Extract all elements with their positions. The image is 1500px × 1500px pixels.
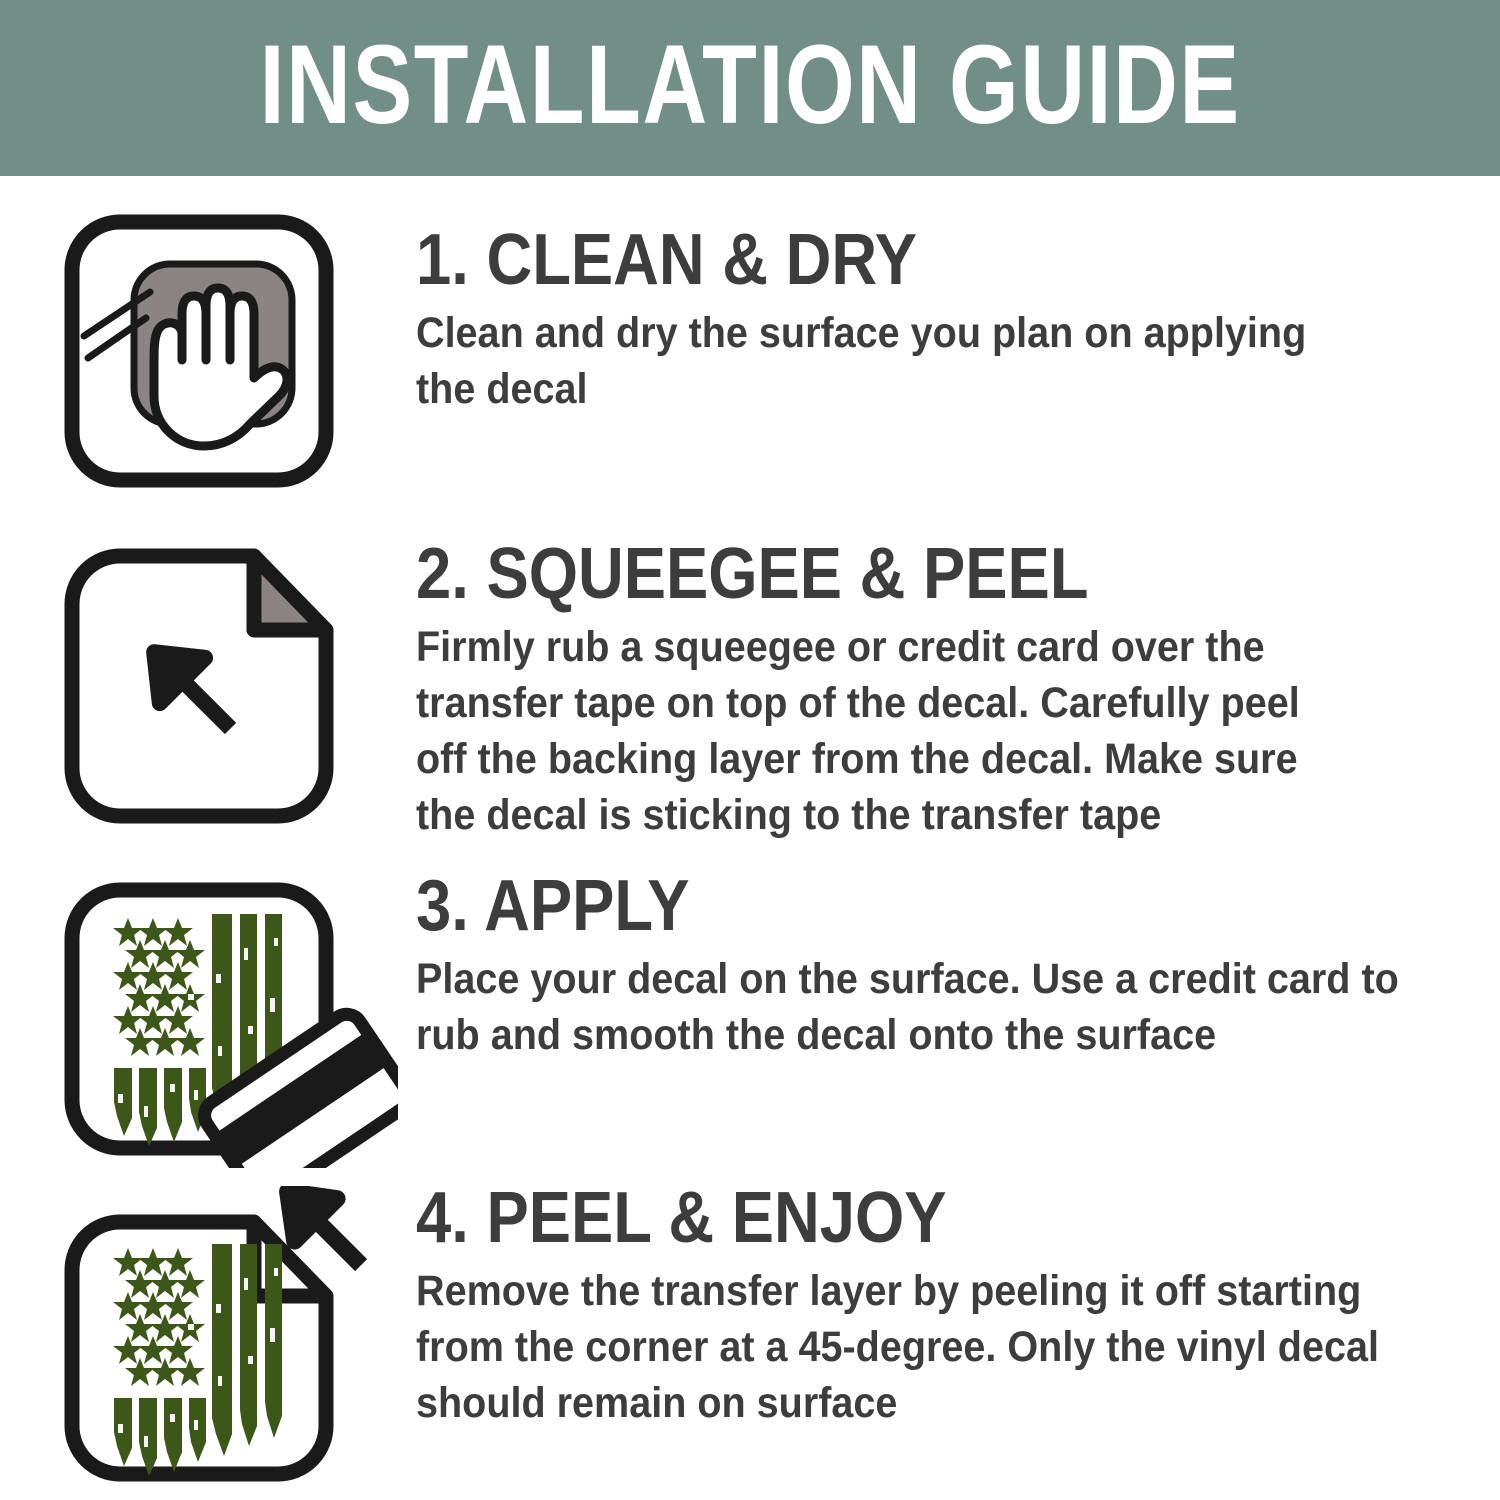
- step-text-block: 2. SQUEEGEE & PEEL Firmly rub a squeegee…: [416, 538, 1426, 844]
- page-title: INSTALLATION GUIDE: [259, 29, 1240, 147]
- step-body: Remove the transfer layer by peeling it …: [416, 1264, 1410, 1432]
- step-text-block: 1. CLEAN & DRY Clean and dry the surface…: [416, 224, 1426, 418]
- steps-list: 1. CLEAN & DRY Clean and dry the surface…: [0, 176, 1500, 1500]
- step-text-block: 4. PEEL & ENJOY Remove the transfer laye…: [416, 1182, 1426, 1432]
- peel-backing-icon: [58, 536, 398, 836]
- peel-transfer-icon: [58, 1186, 398, 1486]
- step-heading: 4. PEEL & ENJOY: [416, 1182, 1305, 1254]
- step-heading: 2. SQUEEGEE & PEEL: [416, 538, 1305, 610]
- step-body: Firmly rub a squeegee or credit card ove…: [416, 620, 1345, 844]
- header-banner: INSTALLATION GUIDE: [0, 0, 1500, 176]
- step-body: Clean and dry the surface you plan on ap…: [416, 306, 1345, 418]
- step-heading: 1. CLEAN & DRY: [416, 224, 1305, 296]
- step-text-block: 3. APPLY Place your decal on the surface…: [416, 870, 1426, 1064]
- step-heading: 3. APPLY: [416, 870, 1305, 942]
- clean-surface-icon: [58, 210, 398, 510]
- apply-decal-icon: [58, 878, 398, 1178]
- step-body: Place your decal on the surface. Use a c…: [416, 952, 1419, 1064]
- installation-guide-page: INSTALLATION GUIDE 1. CLEAN & DR: [0, 0, 1500, 1500]
